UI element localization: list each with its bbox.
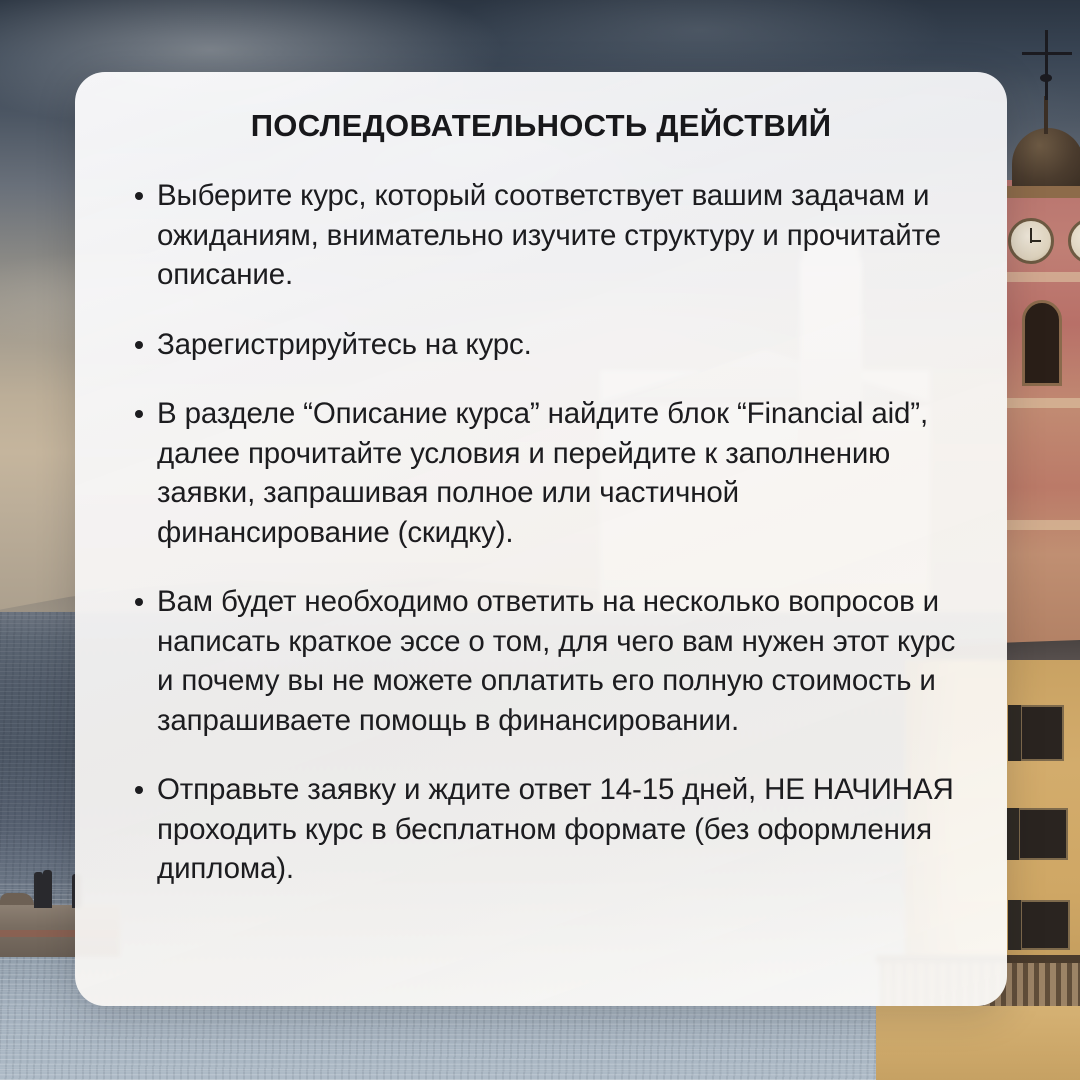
building-window	[1020, 900, 1070, 950]
card-content: ПОСЛЕДОВАТЕЛЬНОСТЬ ДЕЙСТВИЙ Выберите кур…	[75, 72, 1007, 1006]
bullet-dot-icon	[135, 786, 143, 794]
list-item-text: Выберите курс, который соответствует ваш…	[157, 176, 974, 295]
bullet-dot-icon	[135, 598, 143, 606]
list-item: В разделе “Описание курса” найдите блок …	[129, 394, 974, 552]
window-shutter	[1006, 808, 1019, 860]
list-item-text: Вам будет необходимо ответить на несколь…	[157, 582, 974, 740]
clock-face-icon	[1008, 218, 1054, 264]
tower-bell-arch	[1022, 300, 1062, 386]
cross-icon	[1022, 52, 1072, 55]
tower-cornice	[1006, 272, 1080, 282]
bullet-dot-icon	[135, 192, 143, 200]
list-item: Зарегистрируйтесь на курс.	[129, 325, 974, 365]
bullet-dot-icon	[135, 410, 143, 418]
tower-cornice	[1006, 520, 1080, 530]
pedestrian-figure	[43, 870, 52, 908]
window-shutter	[1008, 705, 1021, 761]
list-item: Отправьте заявку и ждите ответ 14-15 дне…	[129, 770, 974, 889]
bullet-dot-icon	[135, 341, 143, 349]
building-window	[1018, 808, 1068, 860]
tower-cornice	[1006, 398, 1080, 408]
tower-spire	[1044, 96, 1048, 134]
tower-dome-base	[1006, 186, 1080, 198]
window-shutter	[1008, 900, 1021, 950]
page-title: ПОСЛЕДОВАТЕЛЬНОСТЬ ДЕЙСТВИЙ	[75, 72, 1007, 144]
list-item-text: В разделе “Описание курса” найдите блок …	[157, 394, 974, 552]
building-window	[1020, 705, 1064, 761]
terrace-base	[876, 1004, 1080, 1080]
steps-list: Выберите курс, который соответствует ваш…	[129, 176, 974, 889]
list-item-text: Отправьте заявку и ждите ответ 14-15 дне…	[157, 770, 974, 889]
instruction-card: ПОСЛЕДОВАТЕЛЬНОСТЬ ДЕЙСТВИЙ Выберите кур…	[75, 72, 1007, 1006]
tower-dome	[1012, 128, 1080, 190]
list-item-text: Зарегистрируйтесь на курс.	[157, 325, 974, 365]
list-item: Вам будет необходимо ответить на несколь…	[129, 582, 974, 740]
pedestrian-figure	[34, 872, 43, 908]
list-item: Выберите курс, который соответствует ваш…	[129, 176, 974, 295]
weathervane-icon	[1040, 74, 1052, 82]
cross-icon	[1045, 30, 1048, 100]
